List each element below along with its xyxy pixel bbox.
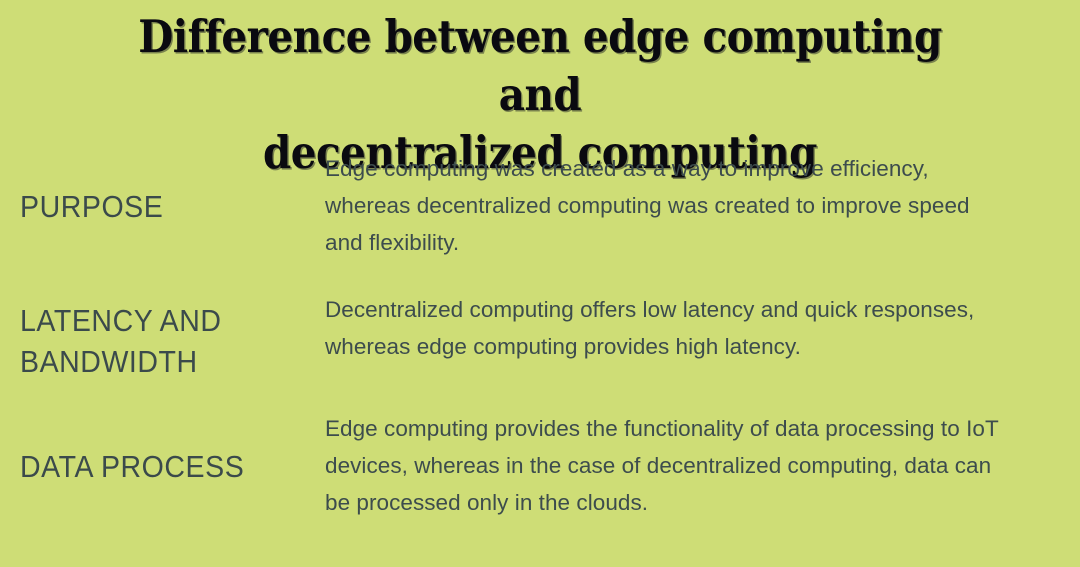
row-label-purpose: PURPOSE — [20, 140, 301, 227]
row-body-purpose: Edge computing was created as a way to i… — [325, 140, 1020, 261]
comparison-rows: PURPOSE Edge computing was created as a … — [0, 140, 1080, 567]
row-label-latency-and-bandwidth: LATENCY AND BANDWIDTH — [20, 277, 301, 382]
row-label-data-process: DATA PROCESS — [20, 402, 301, 487]
row-body-data-process: Edge computing provides the functionalit… — [325, 402, 1020, 521]
comparison-row: PURPOSE Edge computing was created as a … — [0, 140, 1080, 277]
comparison-row: DATA PROCESS Edge computing provides the… — [0, 402, 1080, 567]
row-body-latency-and-bandwidth: Decentralized computing offers low laten… — [325, 277, 1020, 365]
comparison-slide: Difference between edge computing and de… — [0, 0, 1080, 567]
comparison-row: LATENCY AND BANDWIDTH Decentralized comp… — [0, 277, 1080, 402]
